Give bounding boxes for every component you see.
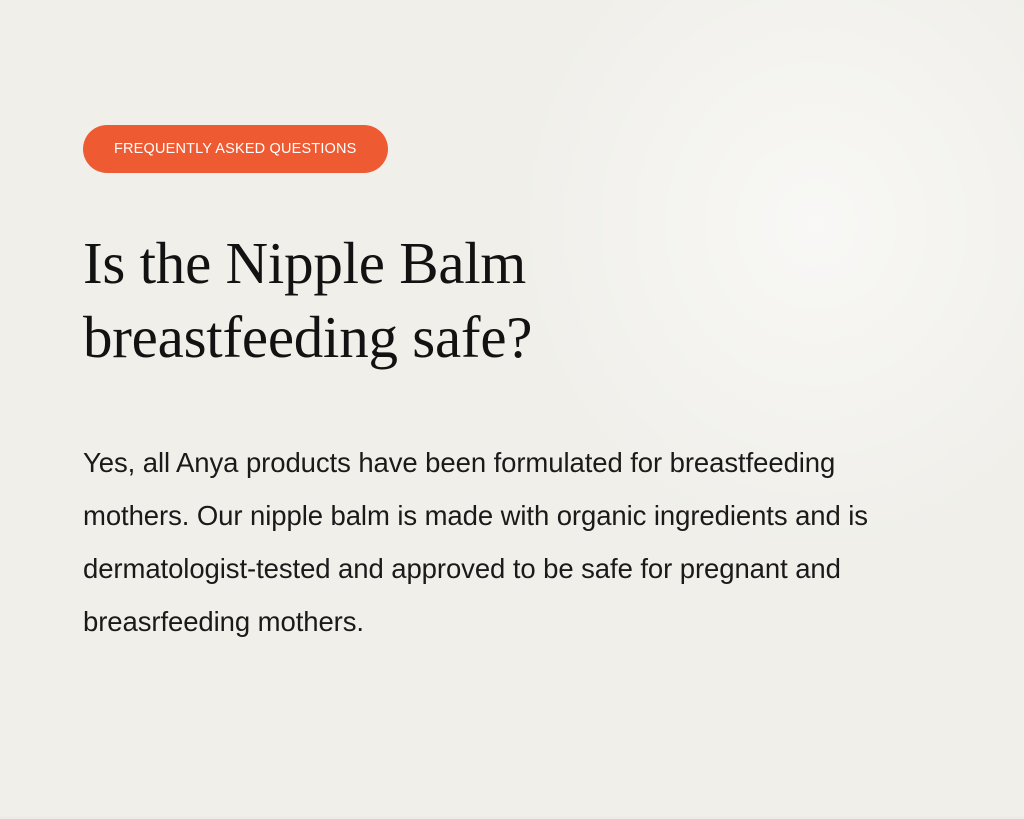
faq-question-heading: Is the Nipple Balm breastfeeding safe?: [83, 173, 643, 374]
faq-answer-text: Yes, all Anya products have been formula…: [83, 374, 873, 648]
section-bottom-divider: [0, 815, 1024, 819]
faq-section: FREQUENTLY ASKED QUESTIONS Is the Nipple…: [0, 0, 1024, 819]
faq-content: FREQUENTLY ASKED QUESTIONS Is the Nipple…: [83, 125, 1024, 648]
faq-eyebrow-badge: FREQUENTLY ASKED QUESTIONS: [83, 125, 388, 173]
